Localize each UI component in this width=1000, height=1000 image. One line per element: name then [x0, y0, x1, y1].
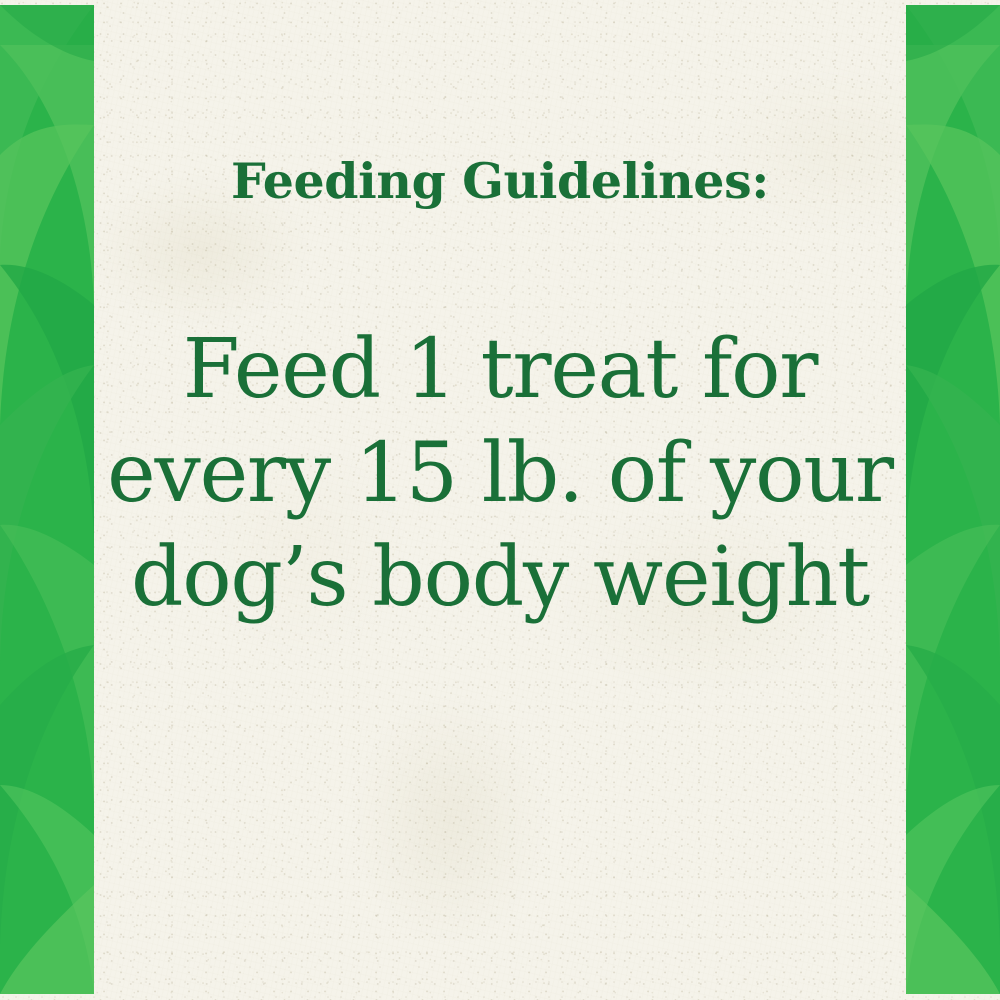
- instruction-line-2: every 15 lb. of your: [94, 422, 906, 526]
- instruction-line-1: Feed 1 treat for: [94, 318, 906, 422]
- text-content-area: Feeding Guidelines: Feed 1 treat for eve…: [94, 0, 906, 1000]
- leaf-pattern-icon: [906, 5, 1000, 994]
- left-leaf-band: [0, 5, 94, 994]
- instruction-line-3: dog’s body weight: [94, 526, 906, 630]
- leaf-pattern-icon: [0, 5, 94, 994]
- feeding-guidelines-panel: Feeding Guidelines: Feed 1 treat for eve…: [0, 0, 1000, 1000]
- page-title: Feeding Guidelines:: [94, 152, 906, 210]
- right-leaf-band: [906, 5, 1000, 994]
- feeding-instruction-text: Feed 1 treat for every 15 lb. of your do…: [94, 318, 906, 630]
